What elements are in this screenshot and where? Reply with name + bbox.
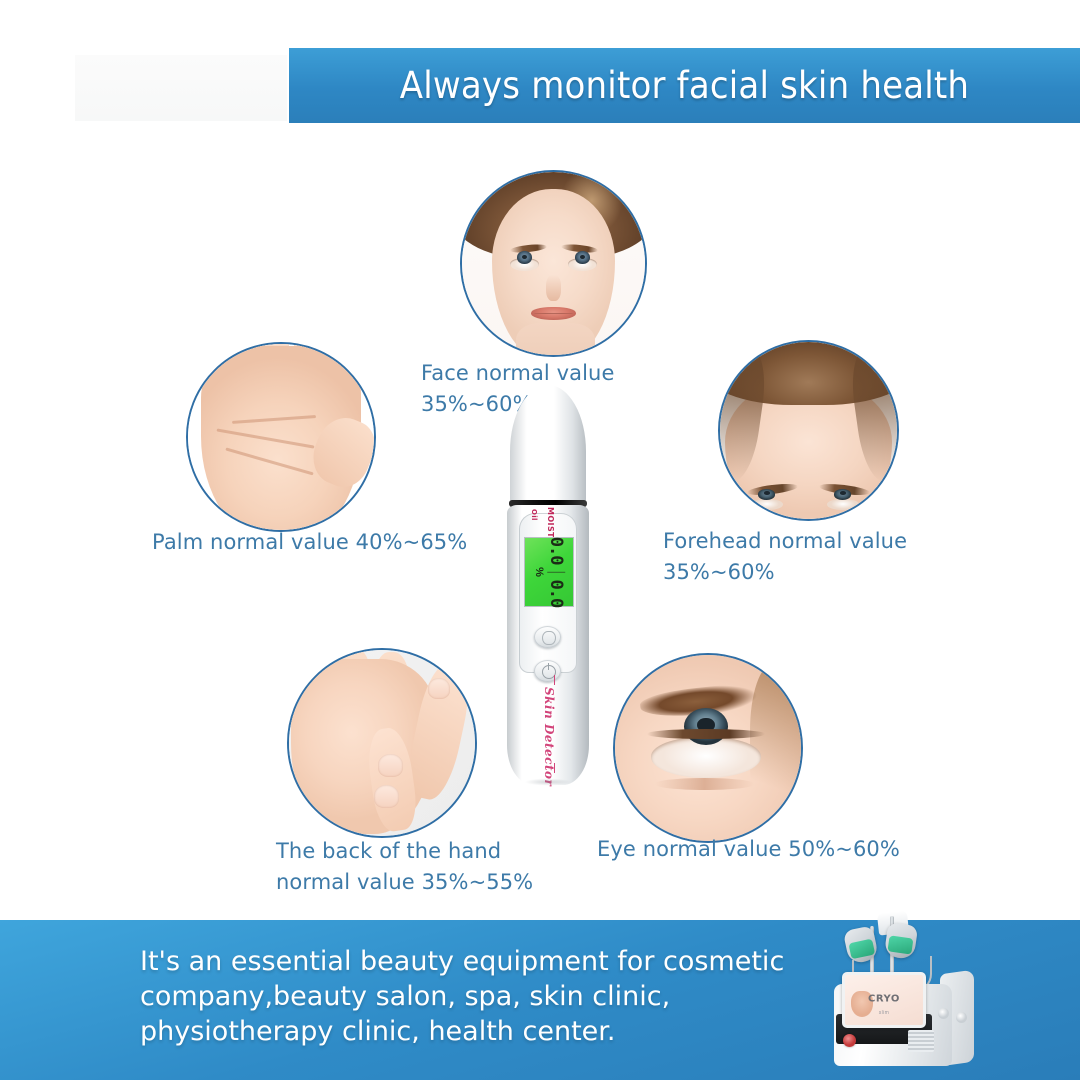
machine-side-button bbox=[956, 1012, 967, 1023]
lcd-oil-value: 0.0 bbox=[548, 580, 565, 608]
machine-screen-logo: CRYO bbox=[868, 994, 900, 1005]
moist-label: MOIST bbox=[546, 507, 555, 538]
photo-circle-back-of-hand bbox=[287, 648, 477, 838]
machine-vent bbox=[908, 1030, 934, 1052]
photo-circle-face bbox=[460, 170, 647, 357]
machine-screen: CRYO slim bbox=[842, 972, 926, 1028]
caption-eye: Eye normal value 50%~60% bbox=[597, 834, 917, 865]
forehead-photo bbox=[718, 340, 899, 521]
caption-back-of-hand: The back of the hand normal value 35%~55… bbox=[276, 836, 606, 898]
photo-circle-eye bbox=[613, 653, 803, 843]
photo-circle-palm bbox=[186, 342, 376, 532]
device-power-button[interactable] bbox=[534, 660, 561, 682]
device-shadow bbox=[516, 777, 580, 787]
infographic-stage: Always monitor facial skin health Face n… bbox=[0, 0, 1080, 1080]
footer-text: It's an essential beauty equipment for c… bbox=[140, 944, 840, 1049]
page-title: Always monitor facial skin health bbox=[400, 64, 969, 107]
lcd-unit: % bbox=[533, 567, 544, 577]
caption-palm: Palm normal value 40%~65% bbox=[152, 527, 472, 558]
machine-side-button bbox=[938, 1008, 949, 1019]
machine-handpiece bbox=[884, 922, 918, 960]
device-mode-button[interactable] bbox=[534, 626, 561, 648]
device-lcd-screen: 0.0 0.0 % bbox=[524, 537, 574, 607]
brand-dash-bottom bbox=[554, 763, 555, 773]
photo-circle-forehead bbox=[718, 340, 899, 521]
oil-label: Oil bbox=[530, 509, 538, 521]
machine-power-knob bbox=[843, 1034, 856, 1047]
woman-face-photo bbox=[460, 170, 647, 357]
skin-detector-device: MOIST Oil 0.0 0.0 % Skin Detector bbox=[498, 385, 598, 785]
caption-forehead: Forehead normal value 35%~60% bbox=[663, 526, 1003, 588]
device-probe-head bbox=[510, 385, 586, 505]
back-of-hand-photo bbox=[287, 648, 477, 838]
lcd-moist-value: 0.0 bbox=[548, 537, 565, 565]
decorative-panel bbox=[75, 55, 287, 121]
lcd-divider bbox=[547, 572, 565, 573]
machine-screen-subtitle: slim bbox=[879, 1010, 890, 1016]
eye-closeup-photo bbox=[613, 653, 803, 843]
brand-dash-top bbox=[554, 675, 555, 685]
header-banner: Always monitor facial skin health bbox=[289, 48, 1080, 123]
cryolipolysis-machine: CRYO slim bbox=[812, 912, 1002, 1080]
oval-button-icon bbox=[542, 631, 556, 645]
open-palm-photo bbox=[186, 342, 376, 532]
